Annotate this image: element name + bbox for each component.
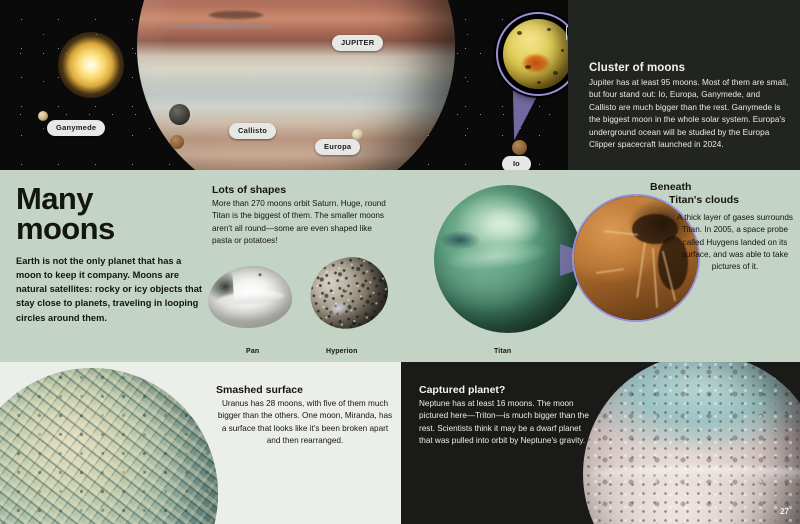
captured-planet-body: Neptune has at least 16 moons. The moon … xyxy=(419,398,591,447)
caption-hyperion: Hyperion xyxy=(326,348,358,355)
label-io: Io xyxy=(502,156,531,170)
label-ganymede: Ganymede xyxy=(47,120,105,136)
lots-of-shapes-title: Lots of shapes xyxy=(212,184,286,196)
hyperion-crater-texture xyxy=(302,249,396,338)
page-number: 27 xyxy=(780,507,789,516)
moon-io-small xyxy=(170,135,184,149)
caption-titan: Titan xyxy=(494,348,511,355)
label-europa: Europa xyxy=(315,139,360,155)
beneath-titan-title-line1: Beneath xyxy=(650,181,691,193)
lots-of-shapes-body: More than 270 moons orbit Saturn. Huge, … xyxy=(212,198,390,247)
pan-crater xyxy=(258,273,261,276)
cluster-of-moons-body: Jupiter has at least 95 moons. Most of t… xyxy=(589,77,789,152)
beneath-titan-title-line2: Titan's clouds xyxy=(650,194,800,207)
miranda-fractured-texture xyxy=(0,368,218,524)
smashed-surface-body: Uranus has 28 moons, with five of them m… xyxy=(216,398,394,447)
moon-ganymede xyxy=(38,111,48,121)
titan-polar-haze xyxy=(478,205,542,245)
jupiter-dark-band xyxy=(209,11,263,19)
spread-page: Ganymede Callisto Europa JUPITER Io has … xyxy=(0,0,800,524)
triton-cantaloupe-texture xyxy=(583,362,800,524)
triton-bright-band xyxy=(589,466,800,482)
moon-triton-image xyxy=(583,362,800,524)
smashed-surface-title: Smashed surface xyxy=(216,384,303,396)
captured-planet-title: Captured planet? xyxy=(419,384,505,396)
moon-miranda-image xyxy=(0,368,218,524)
many-moons-panel: Many moons Earth is not the only planet … xyxy=(0,170,800,362)
jupiter-blue-band xyxy=(158,24,278,29)
captured-planet-panel: Captured planet? Neptune has at least 16… xyxy=(401,362,800,524)
moon-hyperion-image xyxy=(302,249,396,338)
moon-io-source xyxy=(512,140,527,155)
beneath-titan-title: Beneath Titan's clouds xyxy=(650,181,800,207)
label-jupiter: JUPITER xyxy=(332,35,383,51)
page-title-line2: moons xyxy=(16,211,115,246)
caption-pan: Pan xyxy=(246,348,259,355)
cluster-of-moons-title: Cluster of moons xyxy=(589,62,685,74)
smashed-surface-panel: Smashed surface Uranus has 28 moons, wit… xyxy=(0,362,401,524)
page-title: Many moons xyxy=(16,184,206,244)
moon-pan-image xyxy=(206,263,294,331)
moon-callisto xyxy=(169,104,190,125)
label-callisto: Callisto xyxy=(229,123,276,139)
cluster-of-moons-panel: Cluster of moons Jupiter has at least 95… xyxy=(568,0,800,170)
intro-paragraph: Earth is not the only planet that has a … xyxy=(16,254,202,325)
beneath-titan-body: A thick layer of gases surrounds Titan. … xyxy=(672,212,798,273)
sun-illustration xyxy=(58,32,124,98)
io-surface-image xyxy=(503,19,573,89)
